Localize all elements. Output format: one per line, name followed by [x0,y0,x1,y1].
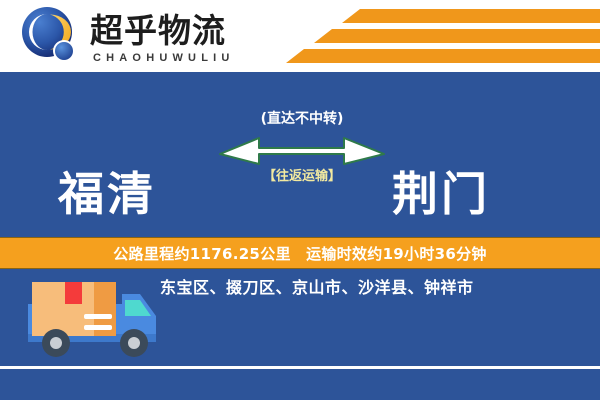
destination-city-label: 荆门 [392,168,490,220]
roundtrip-note: 【往返运输】 [218,168,386,185]
route-middle-group: (直达不中转) 【往返运输】 [218,110,386,185]
footer-divider [0,366,600,369]
brand-text: 超乎物流 CHAOHUWULIU [90,10,235,65]
stripe-2 [314,29,600,43]
bidirectional-arrow-icon [218,132,386,166]
header-bar: 超乎物流 CHAOHUWULIU [0,0,600,72]
chaohu-circle-logo-icon [20,6,82,68]
delivery-truck-icon [22,278,178,364]
route-band: 福清 (直达不中转) 【往返运输】 荆门 [0,72,600,232]
distance-duration-bar: 公路里程约1176.25公里 运输时效约19小时36分钟 [0,237,600,269]
brand-lockup: 超乎物流 CHAOHUWULIU [20,6,235,68]
logistics-route-poster: 超乎物流 CHAOHUWULIU 福清 (直达不中转) 【往返运输】 荆门 公路… [0,0,600,400]
distance-duration-text: 公路里程约1176.25公里 运输时效约19小时36分钟 [113,243,486,264]
covered-districts-label: 东宝区、掇刀区、京山市、沙洋县、钟祥市 [160,277,580,299]
stripe-1 [342,9,600,23]
direct-route-note: (直达不中转) [218,110,386,128]
brand-name-cn: 超乎物流 [90,12,235,50]
stripe-3 [286,49,600,63]
brand-name-en: CHAOHUWULIU [90,51,235,65]
header-stripes-decoration [280,0,600,72]
origin-city-label: 福清 [58,168,156,220]
